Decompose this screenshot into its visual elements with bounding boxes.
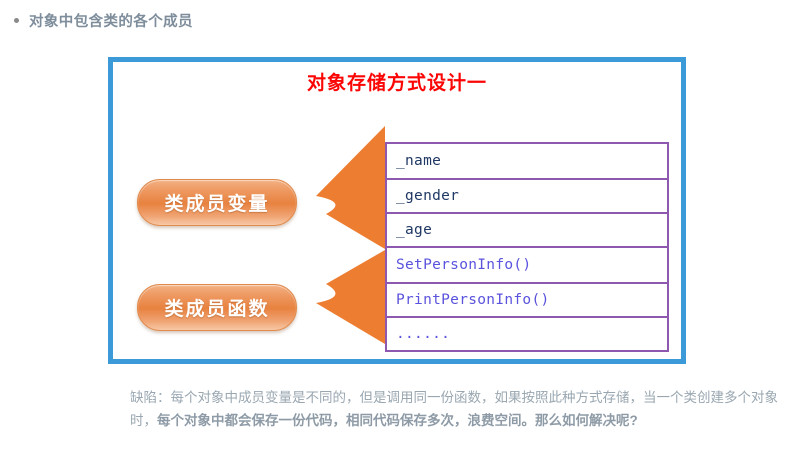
bullet-heading: 对象中包含类的各个成员 [14,10,193,31]
caption-block: 缺陷：每个对象中成员变量是不同的，但是调用同一份函数，如果按照此种方式存储，当一… [130,386,790,432]
member-row: _age [387,212,667,246]
member-row: _gender [387,178,667,212]
member-row: ...... [387,316,667,350]
caption-line-2-emphasis: 每个对象中都会保存一份代码，相同代码保存多次，浪费空间。那么如何解决呢? [157,413,638,428]
member-row: _name [387,144,667,178]
member-row: PrintPersonInfo() [387,282,667,316]
caption-line-1: 缺陷：每个对象中成员变量是不同的，但是调用同一份函数，如果按照此种方式存储，当一… [130,390,738,405]
diagram-title: 对象存储方式设计一 [113,68,681,95]
bullet-heading-text: 对象中包含类的各个成员 [29,10,193,31]
arrow-to-member-variables-icon [316,126,385,249]
member-row: SetPersonInfo() [387,248,667,282]
member-table: _name _gender _age SetPersonInfo() Print… [385,142,669,352]
capsule-label: 类成员函数 [164,294,269,321]
member-group-variables: _name _gender _age [385,142,669,248]
diagram-frame: 对象存储方式设计一 类成员变量 类成员函数 _name _gender _age… [108,57,686,364]
capsule-class-member-functions[interactable]: 类成员函数 [137,284,297,331]
capsule-class-member-variables[interactable]: 类成员变量 [137,179,297,226]
capsule-label: 类成员变量 [164,189,269,216]
bullet-dot-icon [14,18,19,23]
member-group-functions: SetPersonInfo() PrintPersonInfo() ...... [385,248,669,352]
arrow-to-member-functions-icon [316,250,385,344]
